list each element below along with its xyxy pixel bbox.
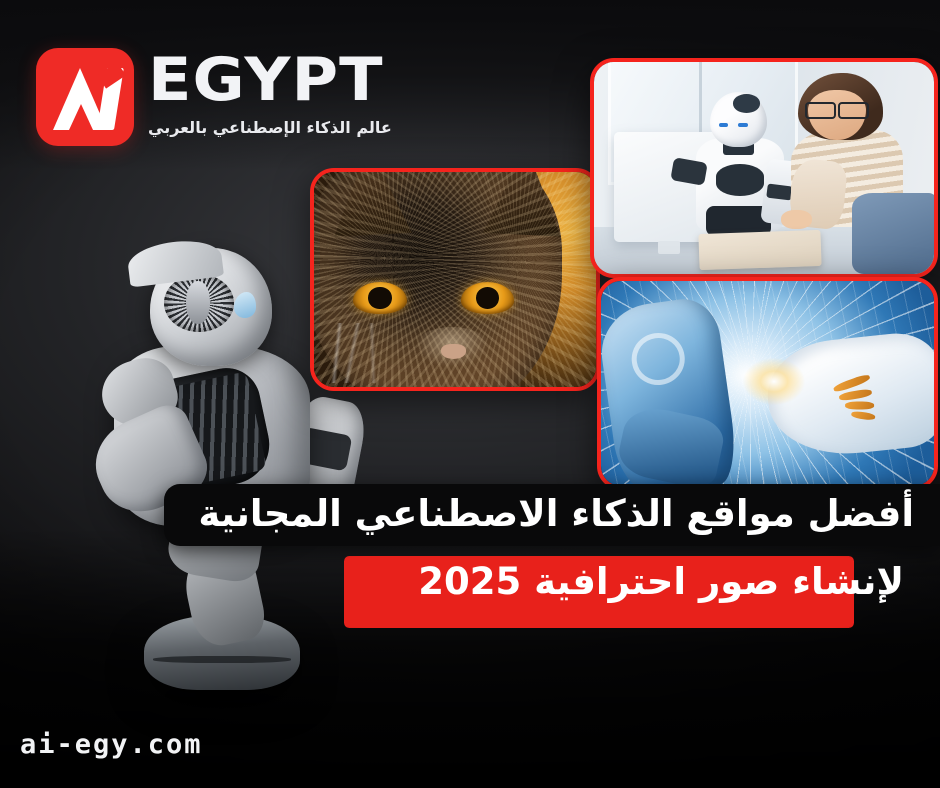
office-photo-content <box>594 62 934 274</box>
robot-finger <box>845 402 874 410</box>
robot-face-grille <box>164 274 234 332</box>
office-robot-eye-right <box>738 123 747 128</box>
cat-eye-left <box>353 282 407 314</box>
robot-eye <box>234 292 256 318</box>
office-robot-head <box>710 92 768 147</box>
cat-photo-content <box>314 172 596 387</box>
office-papers <box>699 229 823 269</box>
ai-monogram-icon <box>36 48 134 146</box>
headline-line-1: أفضل مواقع الذكاء الاصطناعي المجانية <box>164 484 940 546</box>
brand-logo[interactable]: EGYPT عالم الذكاء الإصطناعي بالعربي <box>36 48 392 146</box>
robot-hands-touch-photo[interactable] <box>597 277 938 490</box>
thumbnail-canvas: EGYPT عالم الذكاء الإصطناعي بالعربي <box>0 0 940 788</box>
site-watermark: ai-egy.com <box>20 729 203 760</box>
woman-hand <box>781 210 812 229</box>
hands-photo-content <box>601 281 934 486</box>
office-robot-chest <box>716 164 764 196</box>
letter-a-notch <box>69 104 93 130</box>
brand-tagline: عالم الذكاء الإصطناعي بالعربي <box>148 118 392 137</box>
headline-line-2: لإنشاء صور احترافية 2025 <box>408 554 914 614</box>
woman-glasses <box>805 102 870 115</box>
cat-closeup-photo[interactable] <box>310 168 600 391</box>
office-robot-eye-left <box>719 123 728 128</box>
brand-text-block: EGYPT عالم الذكاء الإصطناعي بالعربي <box>148 48 392 137</box>
woman-jeans <box>852 193 934 274</box>
cat-whiskers <box>314 323 596 383</box>
cat-pupil-left <box>368 287 392 310</box>
headline-line-2-wrap: لإنشاء صور احترافية 2025 <box>408 554 940 614</box>
cat-pupil-right <box>476 287 500 310</box>
robot-woman-office-photo[interactable] <box>590 58 938 278</box>
brand-wordmark: EGYPT <box>148 52 406 110</box>
robot-finger <box>851 411 876 422</box>
cat-eye-right <box>461 282 515 314</box>
contact-spark-glow <box>734 351 814 413</box>
